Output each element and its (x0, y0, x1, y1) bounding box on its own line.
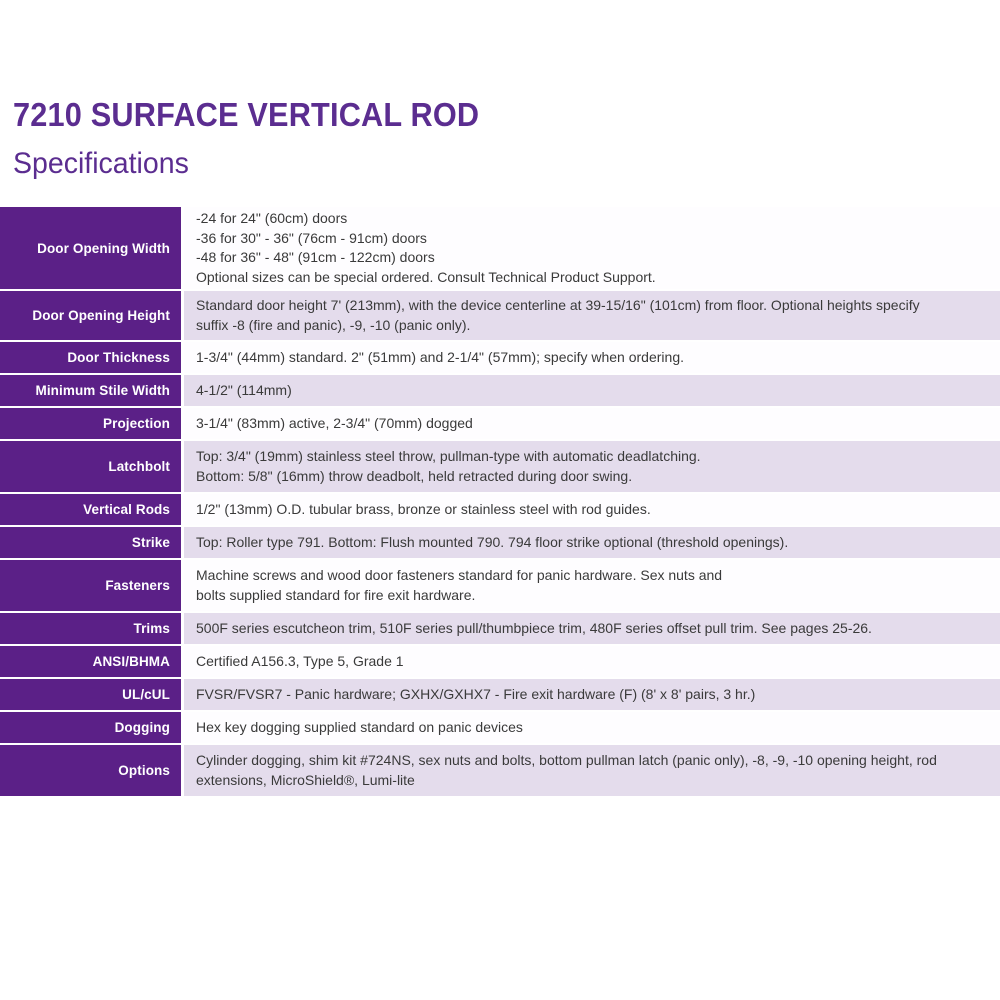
spec-value-line: FVSR/FVSR7 - Panic hardware; GXHX/GXHX7 … (196, 685, 988, 705)
spec-value: Cylinder dogging, shim kit #724NS, sex n… (184, 745, 1000, 796)
spec-value: Top: 3/4" (19mm) stainless steel throw, … (184, 441, 1000, 492)
spec-value: 3-1/4" (83mm) active, 2-3/4" (70mm) dogg… (184, 408, 1000, 439)
spec-value: Hex key dogging supplied standard on pan… (184, 712, 1000, 743)
table-row: Minimum Stile Width4-1/2" (114mm) (0, 375, 1000, 408)
spec-value: 500F series escutcheon trim, 510F series… (184, 613, 1000, 644)
spec-value-line: -24 for 24" (60cm) doors (196, 209, 988, 229)
spec-label: Minimum Stile Width (0, 375, 181, 406)
spec-value: 1-3/4" (44mm) standard. 2" (51mm) and 2-… (184, 342, 1000, 373)
spec-label: Options (0, 745, 181, 796)
spec-value-line: Cylinder dogging, shim kit #724NS, sex n… (196, 751, 988, 771)
spec-value-line: Standard door height 7' (213mm), with th… (196, 296, 988, 316)
spec-value: FVSR/FVSR7 - Panic hardware; GXHX/GXHX7 … (184, 679, 1000, 710)
spec-value-line: suffix -8 (fire and panic), -9, -10 (pan… (196, 316, 988, 336)
table-row: UL/cULFVSR/FVSR7 - Panic hardware; GXHX/… (0, 679, 1000, 712)
spec-value-line: bolts supplied standard for fire exit ha… (196, 586, 988, 606)
spec-value: Top: Roller type 791. Bottom: Flush moun… (184, 527, 1000, 558)
spec-value-line: Certified A156.3, Type 5, Grade 1 (196, 652, 988, 672)
spec-value: Machine screws and wood door fasteners s… (184, 560, 1000, 611)
spec-value-line: Bottom: 5/8" (16mm) throw deadbolt, held… (196, 467, 988, 487)
table-row: StrikeTop: Roller type 791. Bottom: Flus… (0, 527, 1000, 560)
spec-label: ANSI/BHMA (0, 646, 181, 677)
table-row: Trims500F series escutcheon trim, 510F s… (0, 613, 1000, 646)
spec-label: Latchbolt (0, 441, 181, 492)
spec-value-line: 1-3/4" (44mm) standard. 2" (51mm) and 2-… (196, 348, 988, 368)
spec-value-line: 3-1/4" (83mm) active, 2-3/4" (70mm) dogg… (196, 414, 988, 434)
table-row: OptionsCylinder dogging, shim kit #724NS… (0, 745, 1000, 796)
spec-label: Door Opening Height (0, 291, 181, 340)
table-row: Door Opening HeightStandard door height … (0, 291, 1000, 342)
page-subtitle: Specifications (13, 136, 951, 181)
spec-value-line: -36 for 30" - 36" (76cm - 91cm) doors (196, 229, 988, 249)
spec-value: 4-1/2" (114mm) (184, 375, 1000, 406)
table-row: Door Opening Width-24 for 24" (60cm) doo… (0, 207, 1000, 291)
spec-value-line: 500F series escutcheon trim, 510F series… (196, 619, 988, 639)
spec-label: Dogging (0, 712, 181, 743)
table-row: Vertical Rods1/2" (13mm) O.D. tubular br… (0, 494, 1000, 527)
spec-label: UL/cUL (0, 679, 181, 710)
table-row: Projection3-1/4" (83mm) active, 2-3/4" (… (0, 408, 1000, 441)
spec-value-line: Hex key dogging supplied standard on pan… (196, 718, 988, 738)
spec-value: -24 for 24" (60cm) doors-36 for 30" - 36… (184, 207, 1000, 289)
spec-label: Door Thickness (0, 342, 181, 373)
spec-value-line: 1/2" (13mm) O.D. tubular brass, bronze o… (196, 500, 988, 520)
spec-value: Standard door height 7' (213mm), with th… (184, 291, 1000, 340)
spec-label: Vertical Rods (0, 494, 181, 525)
spec-label: Projection (0, 408, 181, 439)
spec-label: Door Opening Width (0, 207, 181, 289)
spec-value: 1/2" (13mm) O.D. tubular brass, bronze o… (184, 494, 1000, 525)
table-row: DoggingHex key dogging supplied standard… (0, 712, 1000, 745)
heading-block: 7210 SURFACE VERTICAL ROD Specifications (0, 0, 1000, 181)
table-row: Door Thickness1-3/4" (44mm) standard. 2"… (0, 342, 1000, 375)
spec-label: Strike (0, 527, 181, 558)
spec-value-line: Machine screws and wood door fasteners s… (196, 566, 988, 586)
table-row: ANSI/BHMACertified A156.3, Type 5, Grade… (0, 646, 1000, 679)
spec-value-line: -48 for 36" - 48" (91cm - 122cm) doors (196, 248, 988, 268)
spec-label: Fasteners (0, 560, 181, 611)
spec-label: Trims (0, 613, 181, 644)
specifications-table: Door Opening Width-24 for 24" (60cm) doo… (0, 207, 1000, 796)
spec-value-line: Top: Roller type 791. Bottom: Flush moun… (196, 533, 988, 553)
table-row: LatchboltTop: 3/4" (19mm) stainless stee… (0, 441, 1000, 494)
spec-sheet-page: 7210 SURFACE VERTICAL ROD Specifications… (0, 0, 1000, 1000)
spec-value-line: extensions, MicroShield®, Lumi-lite (196, 771, 988, 791)
spec-value: Certified A156.3, Type 5, Grade 1 (184, 646, 1000, 677)
spec-value-line: 4-1/2" (114mm) (196, 381, 988, 401)
page-title: 7210 SURFACE VERTICAL ROD (13, 0, 931, 136)
spec-value-line: Optional sizes can be special ordered. C… (196, 268, 988, 288)
table-row: FastenersMachine screws and wood door fa… (0, 560, 1000, 613)
spec-value-line: Top: 3/4" (19mm) stainless steel throw, … (196, 447, 988, 467)
